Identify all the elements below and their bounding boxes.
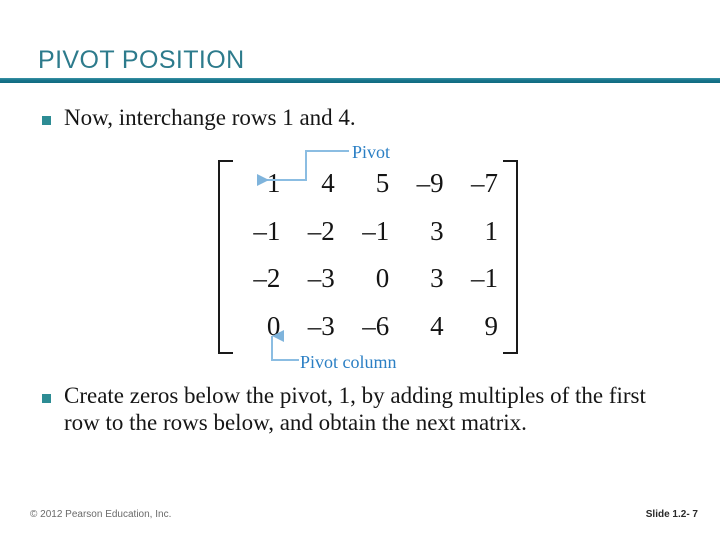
matrix-right-bracket: [503, 160, 518, 354]
bullet-item-1-label: Now, interchange rows 1 and 4.: [64, 105, 356, 132]
bullet-item-1: Now, interchange rows 1 and 4.: [42, 105, 356, 132]
matrix-cell: 1: [450, 218, 504, 245]
matrix-cell: 1: [232, 170, 286, 197]
bullet-item-2-label: Create zeros below the pivot, 1, by addi…: [64, 383, 682, 437]
matrix-cell: 5: [341, 170, 395, 197]
matrix-cell: –2: [232, 265, 286, 292]
footer-slide-number: Slide 1.2- 7: [646, 509, 698, 520]
bullet-item-2: Create zeros below the pivot, 1, by addi…: [42, 383, 682, 437]
matrix-cell: 0: [232, 313, 286, 340]
matrix-cell: –1: [232, 218, 286, 245]
matrix-cell: 3: [395, 265, 449, 292]
matrix-cell: 4: [395, 313, 449, 340]
matrix-cell: –7: [450, 170, 504, 197]
title-divider: [0, 78, 720, 83]
matrix-cell: 0: [341, 265, 395, 292]
matrix-left-bracket: [218, 160, 233, 354]
matrix-cell: 3: [395, 218, 449, 245]
matrix-cell: 9: [450, 313, 504, 340]
matrix-grid: 1 4 5 –9 –7 –1 –2 –1 3 1 –2 –3 0 3 –1 0 …: [232, 160, 504, 350]
matrix-cell: –3: [286, 313, 340, 340]
matrix-cell: –6: [341, 313, 395, 340]
matrix-cell: –9: [395, 170, 449, 197]
bullet-square-icon: [42, 116, 51, 125]
matrix-cell: –2: [286, 218, 340, 245]
pivot-annotation-label: Pivot: [352, 142, 390, 163]
matrix-cell: –1: [341, 218, 395, 245]
page-title: PIVOT POSITION: [38, 46, 245, 75]
matrix-cell: –3: [286, 265, 340, 292]
footer-copyright: © 2012 Pearson Education, Inc.: [30, 509, 171, 520]
pivot-column-annotation-label: Pivot column: [300, 352, 397, 373]
matrix-cell: –1: [450, 265, 504, 292]
matrix: 1 4 5 –9 –7 –1 –2 –1 3 1 –2 –3 0 3 –1 0 …: [218, 160, 518, 350]
matrix-cell: 4: [286, 170, 340, 197]
bullet-square-icon: [42, 394, 51, 403]
